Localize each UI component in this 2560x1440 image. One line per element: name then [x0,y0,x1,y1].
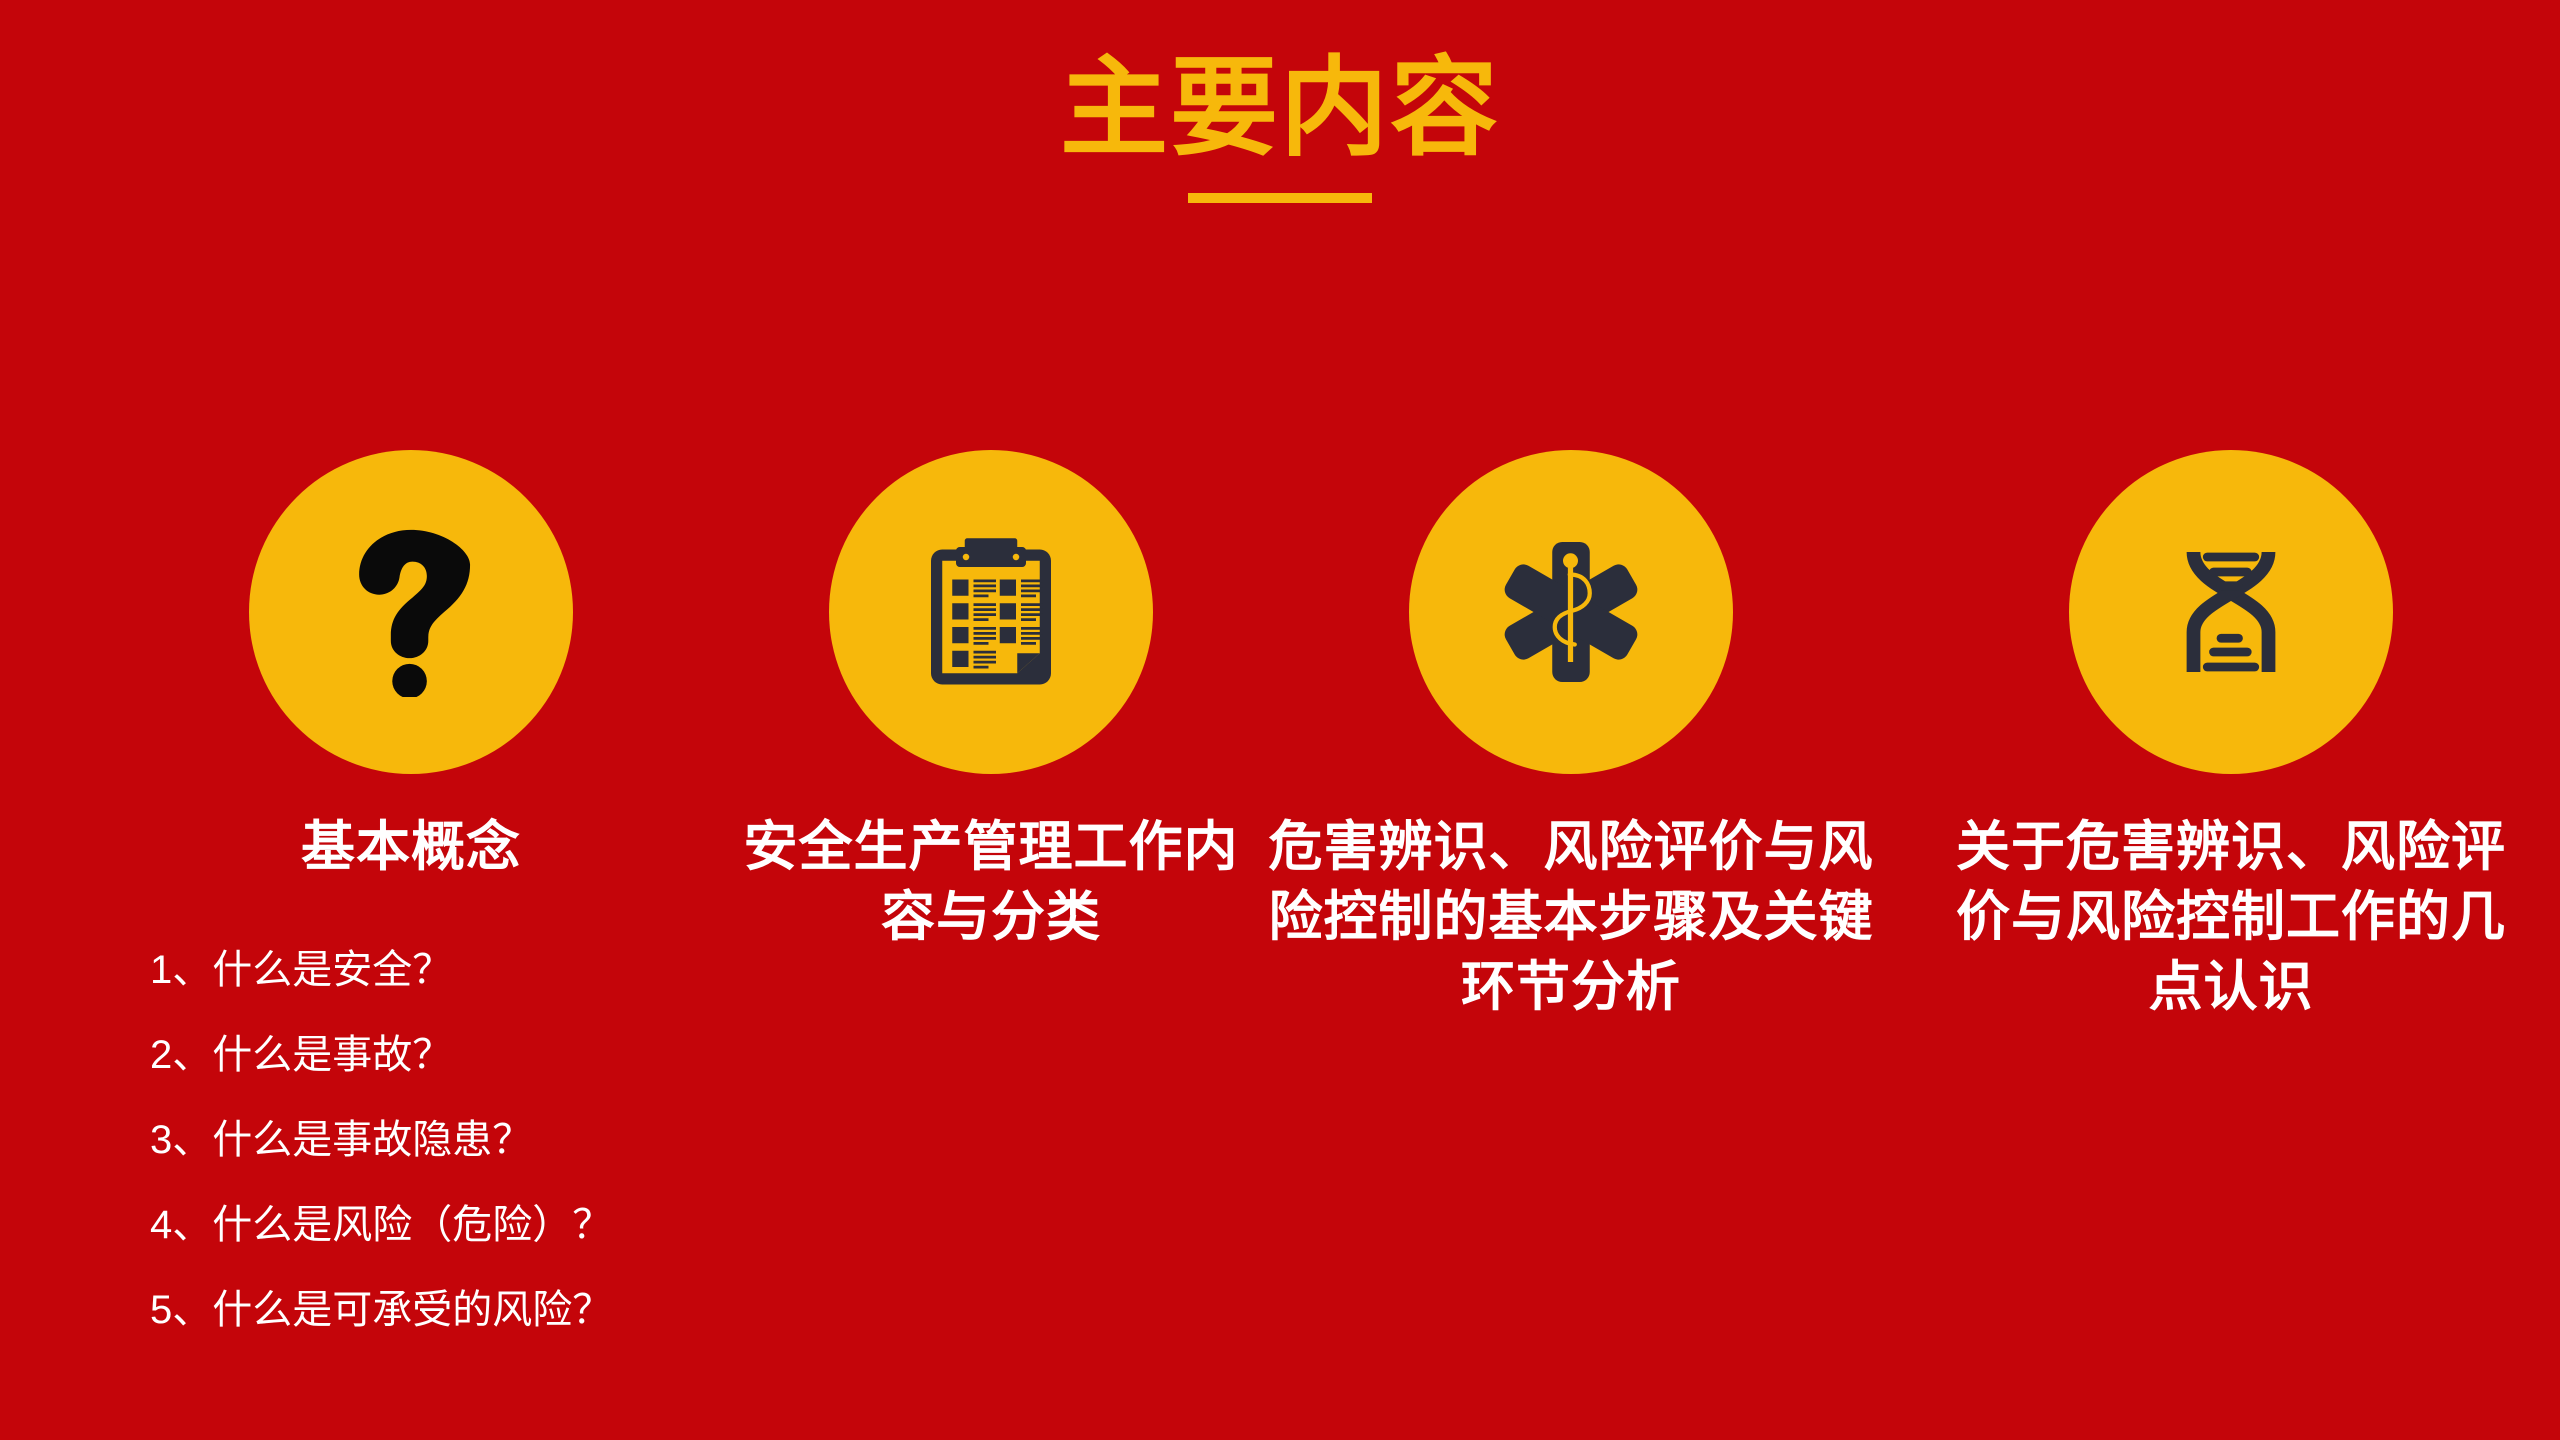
column-3-heading: 危害辨识、风险评价与风险控制的基本步骤及关键环节分析 [1261,812,1881,1023]
question-mark-icon [336,527,486,697]
basic-concepts-question-list: 1、什么是安全？ 2、什么是事故？ 3、什么是事故隐患？ 4、什么是风险（危险）… [150,950,870,1375]
title-underline-divider [1188,193,1372,203]
list-item: 5、什么是可承受的风险？ [150,1290,870,1330]
list-item: 1、什么是安全？ [150,950,870,990]
icon-circle-1 [249,450,573,774]
column-4-heading: 关于危害辨识、风险评价与风险控制工作的几点认识 [1931,812,2531,1023]
column-1-heading: 基本概念 [169,812,653,882]
list-item: 3、什么是事故隐患？ [150,1120,870,1160]
content-column-4[interactable]: 关于危害辨识、风险评价与风险控制工作的几点认识 [1931,450,2531,1023]
content-column-1[interactable]: 基本概念 [169,450,653,882]
star-of-life-medical-icon [1491,532,1651,692]
list-item: 2、什么是事故？ [150,1035,870,1075]
icon-circle-2 [829,450,1153,774]
slide-root: 主要内容 基本概念 [0,0,2560,1440]
icon-circle-4 [2069,450,2393,774]
page-title: 主要内容 [0,48,2560,169]
title-block: 主要内容 [0,48,2560,203]
content-column-3[interactable]: 危害辨识、风险评价与风险控制的基本步骤及关键环节分析 [1261,450,1881,1023]
column-2-heading: 安全生产管理工作内容与分类 [731,812,1251,952]
clipboard-checklist-icon [911,532,1071,692]
icon-circle-3 [1409,450,1733,774]
dna-helix-icon [2151,532,2311,692]
content-column-2[interactable]: 安全生产管理工作内容与分类 [731,450,1251,952]
list-item: 4、什么是风险（危险）？ [150,1205,870,1245]
